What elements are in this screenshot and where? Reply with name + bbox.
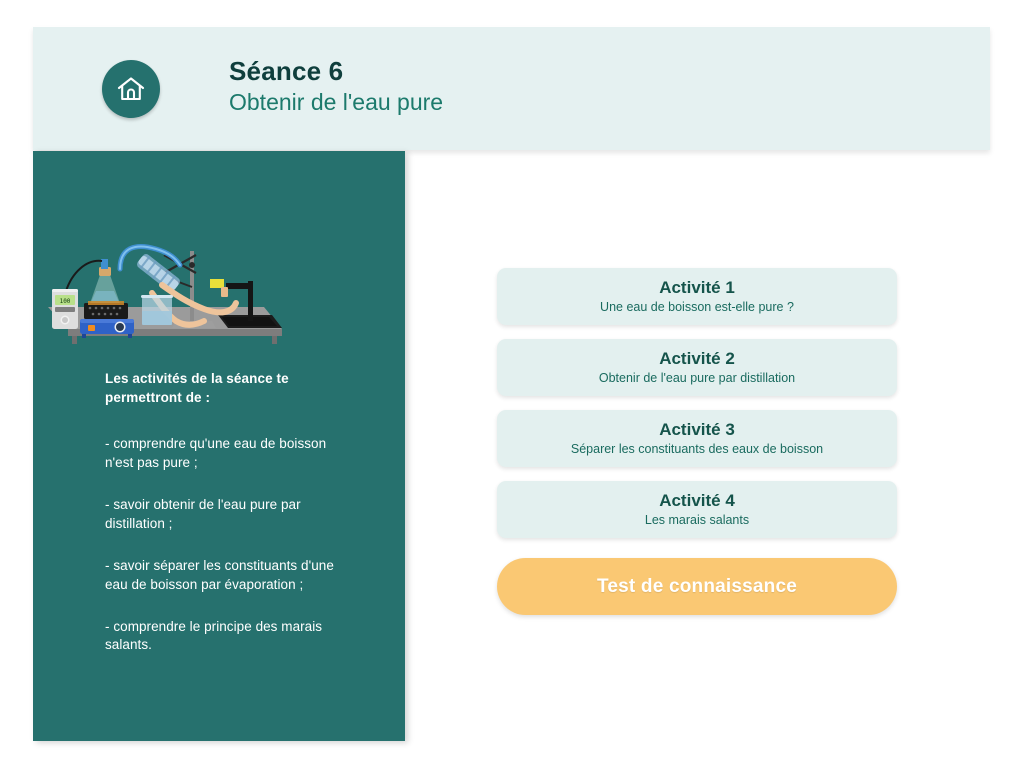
activity-title: Activité 2 (659, 348, 735, 369)
objective-item: - comprendre le principe des marais sala… (105, 618, 337, 656)
activity-list: Activité 1 Une eau de boisson est-elle p… (497, 268, 897, 615)
activity-title: Activité 3 (659, 419, 735, 440)
objectives-heading: Les activités de la séance te permettron… (105, 370, 337, 407)
objectives-block: Les activités de la séance te permettron… (105, 370, 337, 655)
activity-button-1[interactable]: Activité 1 Une eau de boisson est-elle p… (497, 268, 897, 325)
activity-title: Activité 1 (659, 277, 735, 298)
knowledge-test-button[interactable]: Test de connaissance (497, 558, 897, 615)
activity-button-3[interactable]: Activité 3 Séparer les constituants des … (497, 410, 897, 467)
activity-subtitle: Séparer les constituants des eaux de boi… (571, 441, 823, 459)
activity-subtitle: Une eau de boisson est-elle pure ? (600, 299, 794, 317)
page-title: Séance 6 (229, 57, 443, 86)
activity-button-4[interactable]: Activité 4 Les marais salants (497, 481, 897, 538)
svg-text:100: 100 (60, 298, 71, 305)
activity-subtitle: Les marais salants (645, 512, 749, 530)
activity-button-2[interactable]: Activité 2 Obtenir de l'eau pure par dis… (497, 339, 897, 396)
activity-subtitle: Obtenir de l'eau pure par distillation (599, 370, 795, 388)
sidebar-panel: 100 Les activités de la séance te permet… (33, 151, 405, 741)
activity-title: Activité 4 (659, 490, 735, 511)
objective-item: - savoir obtenir de l'eau pure par disti… (105, 496, 337, 534)
header-text-block: Séance 6 Obtenir de l'eau pure (229, 57, 443, 119)
home-button[interactable] (102, 60, 160, 118)
distillation-apparatus-illustration: 100 (36, 229, 286, 349)
knowledge-test-label: Test de connaissance (597, 576, 797, 598)
objective-item: - comprendre qu'une eau de boisson n'est… (105, 435, 337, 473)
home-icon (115, 73, 147, 105)
header-bar: Séance 6 Obtenir de l'eau pure (33, 27, 990, 150)
page-subtitle: Obtenir de l'eau pure (229, 86, 443, 119)
objective-item: - savoir séparer les constituants d'une … (105, 557, 337, 595)
main-content: Activité 1 Une eau de boisson est-elle p… (405, 151, 1024, 768)
